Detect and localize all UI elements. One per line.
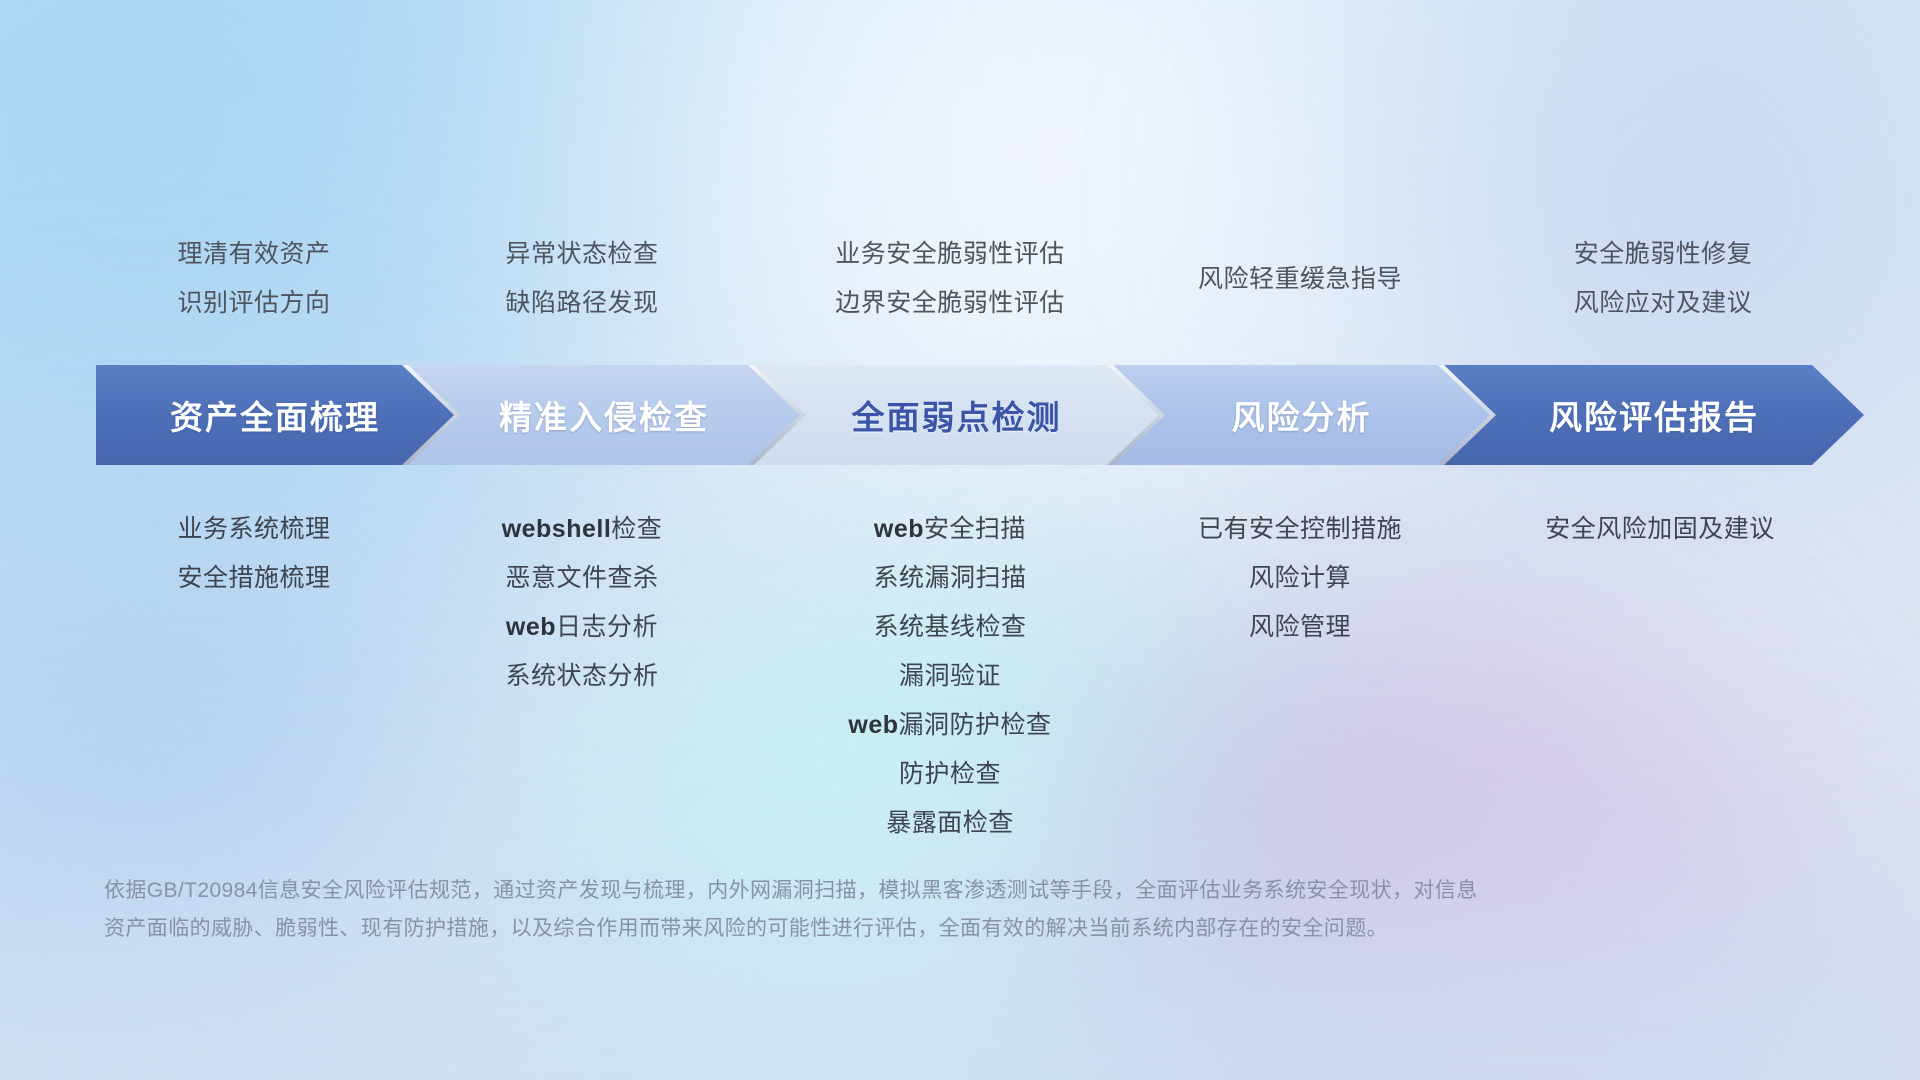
stage-bottom-list-intrusion-check: webshell检查 恶意文件查杀 web日志分析 系统状态分析 (432, 505, 732, 701)
bottom-list-item: web漏洞防护检查 (790, 701, 1110, 750)
stage-label: 资产全面梳理 (170, 391, 380, 439)
bottom-list-item: web日志分析 (432, 603, 732, 652)
bottom-item-cn: 日志分析 (556, 613, 658, 641)
stage-top-list-risk-analysis: 风险轻重缓急指导 (1155, 255, 1445, 304)
top-list-item: 识别评估方向 (104, 279, 404, 328)
top-list-item: 异常状态检查 (432, 230, 732, 279)
bottom-list-item: 安全措施梳理 (104, 554, 404, 603)
stage-label: 风险分析 (1232, 391, 1372, 439)
bottom-item-cn: 系统漏洞扫描 (873, 564, 1026, 592)
stage-bottom-list-risk-report: 安全风险加固及建议 (1500, 505, 1820, 554)
stage-top-list-intrusion-check: 异常状态检查 缺陷路径发现 (432, 230, 732, 328)
bottom-item-latin: web (848, 711, 898, 739)
bottom-item-latin: web (506, 613, 556, 641)
stage-label: 精准入侵检查 (499, 391, 709, 439)
bottom-list-item: webshell检查 (432, 505, 732, 554)
stage-label: 风险评估报告 (1549, 391, 1759, 439)
bottom-list-item: 业务系统梳理 (104, 505, 404, 554)
stage-chevron-intrusion-check[interactable]: 精准入侵检查 (408, 365, 800, 465)
top-list-item: 风险应对及建议 (1523, 279, 1803, 328)
bottom-list-item: 安全风险加固及建议 (1500, 505, 1820, 554)
stage-top-list-risk-report: 安全脆弱性修复 风险应对及建议 (1523, 230, 1803, 328)
bottom-list-item: 暴露面检查 (790, 799, 1110, 848)
bottom-list-item: 防护检查 (790, 750, 1110, 799)
stage-chevron-band: 资产全面梳理 精准入侵检查 全面弱点检测 风险分析 风险评估报告 (0, 365, 1920, 465)
top-list-item: 理清有效资产 (104, 230, 404, 279)
stage-bottom-list-risk-analysis: 已有安全控制措施 风险计算 风险管理 (1155, 505, 1445, 652)
bottom-item-cn: 防护检查 (899, 760, 1001, 788)
bottom-list-item: 系统基线检查 (790, 603, 1110, 652)
bottom-item-cn: 漏洞验证 (899, 662, 1001, 690)
bottom-item-cn: 风险管理 (1249, 613, 1351, 641)
bottom-list-item: 恶意文件查杀 (432, 554, 732, 603)
footer-line-2: 资产面临的威胁、脆弱性、现有防护措施，以及综合作用而带来风险的可能性进行评估，全… (104, 910, 1634, 948)
bottom-item-cn: 检查 (611, 515, 662, 543)
bottom-item-cn: 已有安全控制措施 (1198, 515, 1402, 543)
footer-description: 依据GB/T20984信息安全风险评估规范，通过资产发现与梳理，内外网漏洞扫描，… (104, 872, 1634, 948)
process-diagram: 理清有效资产 识别评估方向 异常状态检查 缺陷路径发现 业务安全脆弱性评估 边界… (0, 0, 1920, 1080)
stage-bottom-list-asset-inventory: 业务系统梳理 安全措施梳理 (104, 505, 404, 603)
top-list-item: 边界安全脆弱性评估 (790, 279, 1110, 328)
stage-bottom-list-weakness-detection: web安全扫描 系统漏洞扫描 系统基线检查 漏洞验证 web漏洞防护检查 防护检… (790, 505, 1110, 848)
stage-top-list-asset-inventory: 理清有效资产 识别评估方向 (104, 230, 404, 328)
bottom-list-item: 系统漏洞扫描 (790, 554, 1110, 603)
footer-line-1: 依据GB/T20984信息安全风险评估规范，通过资产发现与梳理，内外网漏洞扫描，… (104, 872, 1634, 910)
stage-chevron-weakness-detection[interactable]: 全面弱点检测 (754, 365, 1159, 465)
bottom-item-cn: 漏洞防护检查 (899, 711, 1052, 739)
stage-chevron-risk-report[interactable]: 风险评估报告 (1444, 365, 1864, 465)
bottom-item-cn: 恶意文件查杀 (505, 564, 658, 592)
bottom-list-item: web安全扫描 (790, 505, 1110, 554)
top-list-item: 缺陷路径发现 (432, 279, 732, 328)
bottom-item-cn: 安全风险加固及建议 (1545, 515, 1775, 543)
stage-chevron-asset-inventory[interactable]: 资产全面梳理 (96, 365, 454, 465)
bottom-item-cn: 系统状态分析 (505, 662, 658, 690)
stage-top-list-weakness-detection: 业务安全脆弱性评估 边界安全脆弱性评估 (790, 230, 1110, 328)
bottom-item-cn: 系统基线检查 (873, 613, 1026, 641)
top-list-item: 业务安全脆弱性评估 (790, 230, 1110, 279)
bottom-item-cn: 安全扫描 (924, 515, 1026, 543)
top-list-item: 风险轻重缓急指导 (1155, 255, 1445, 304)
top-list-item: 安全脆弱性修复 (1523, 230, 1803, 279)
bottom-item-latin: web (874, 515, 924, 543)
bottom-item-latin: webshell (502, 515, 612, 543)
stage-chevron-risk-analysis[interactable]: 风险分析 (1113, 365, 1490, 465)
bottom-list-item: 系统状态分析 (432, 652, 732, 701)
bottom-item-cn: 业务系统梳理 (177, 515, 330, 543)
bottom-list-item: 风险管理 (1155, 603, 1445, 652)
bottom-item-cn: 风险计算 (1249, 564, 1351, 592)
bottom-item-cn: 暴露面检查 (886, 809, 1014, 837)
stage-label: 全面弱点检测 (852, 391, 1062, 439)
bottom-list-item: 已有安全控制措施 (1155, 505, 1445, 554)
bottom-item-cn: 安全措施梳理 (177, 564, 330, 592)
bottom-list-item: 漏洞验证 (790, 652, 1110, 701)
bottom-list-item: 风险计算 (1155, 554, 1445, 603)
